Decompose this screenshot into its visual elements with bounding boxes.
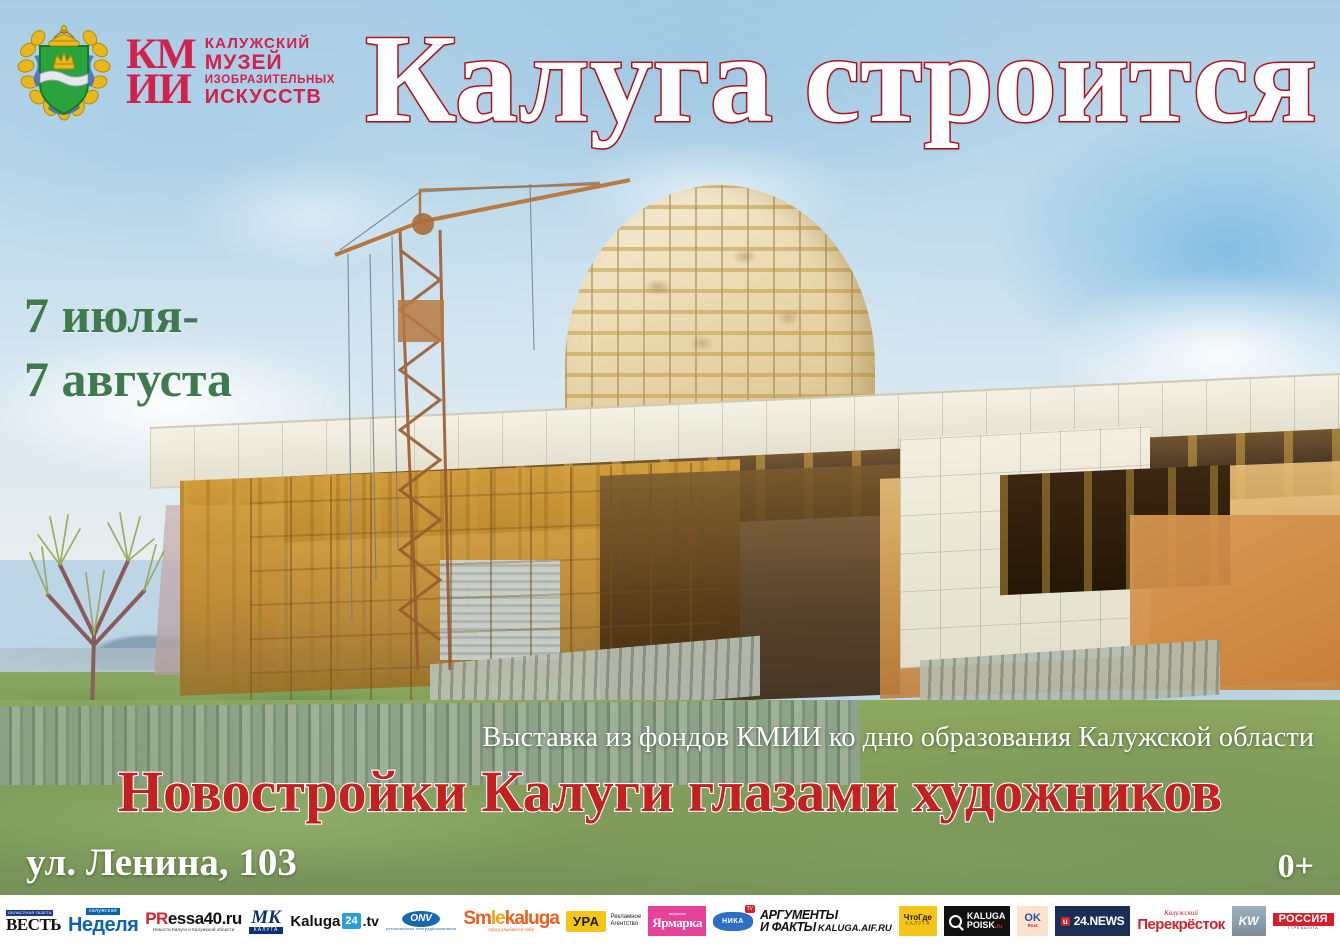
- sponsor-smile-tagline: город улыбается тебе: [488, 928, 534, 933]
- sponsor-pressa40-rest: essa40.ru: [168, 909, 242, 928]
- tower-crane: [300, 150, 720, 710]
- sponsor-logo-kaluga24tv[interactable]: Kaluga 24 .tv: [290, 906, 379, 936]
- sponsor-logo-kalugapoisk[interactable]: KALUGA POISK.ru: [944, 906, 1011, 936]
- kmii-word-iskusstv: ИСКУССТВ: [205, 87, 335, 109]
- sponsor-kaluga24-name: Kaluga: [290, 913, 340, 930]
- sponsor-logo-mk[interactable]: MK КАЛУГА: [249, 906, 284, 936]
- sponsor-kaluga24-badge: 24: [342, 913, 360, 929]
- poster-main-title: Калуга строится: [346, 12, 1336, 148]
- sponsor-pressa40-prefix: PR: [145, 909, 168, 928]
- sponsor-aif-line2: И ФАКТЫ: [760, 921, 816, 934]
- sponsor-pressa40-tagline: Новости Калуги и Калужской области: [153, 928, 235, 933]
- date-end: 7 августа: [24, 347, 232, 411]
- sponsor-logo-rossiya[interactable]: РОССИЯ ГТРК КАЛУГА: [1273, 906, 1334, 936]
- sponsor-logo-nedelya[interactable]: калужская Неделя: [68, 906, 138, 936]
- sponsor-poisk-line2: POISK: [967, 920, 995, 930]
- sponsor-rossiya-name: РОССИЯ: [1273, 913, 1334, 926]
- sponsor-logo-kw[interactable]: KW: [1232, 906, 1266, 936]
- exhibition-dates: 7 июля- 7 августа: [24, 283, 232, 411]
- sponsor-logo-bar: ОБЛАСТНАЯ ГАЗЕТА ВЕСТЬ калужская Неделя …: [0, 895, 1340, 947]
- date-start: 7 июля-: [24, 283, 232, 347]
- sponsor-ura-tagline-line2: Агентство: [610, 921, 638, 927]
- sponsor-smile-part-b: le: [491, 908, 505, 929]
- sponsor-nedelya-name: Неделя: [68, 915, 138, 935]
- kmii-wordmark: КАЛУЖСКИЙ МУЗЕЙ ИЗОБРАЗИТЕЛЬНЫХ ИСКУССТВ: [205, 36, 335, 109]
- sponsor-poisk-text: KALUGA POISK.ru: [967, 912, 1006, 931]
- sponsor-mk-city: КАЛУГА: [249, 927, 284, 934]
- sponsor-mk-name: MK: [251, 908, 281, 927]
- kmii-monogram: КМ ИИ: [126, 37, 196, 108]
- sponsor-smile-part-c: kaluga: [505, 908, 559, 929]
- museum-logo: КМ ИИ КАЛУЖСКИЙ МУЗЕЙ ИЗОБРАЗИТЕЛЬНЫХ ИС…: [16, 20, 335, 124]
- sponsor-ura-tagline-line1: Рекламное: [610, 914, 641, 920]
- sponsor-chtogde-city: КАЛУГА: [905, 922, 930, 928]
- sponsor-logo-24news[interactable]: u 24.NEWS: [1055, 906, 1130, 936]
- poster-subtitle: Выставка из фондов КМИИ ко дню образован…: [0, 722, 1340, 754]
- sponsor-nika-badge: TV: [745, 905, 755, 913]
- sponsor-onv-tagline: региональная телерадиокомпания: [386, 927, 456, 931]
- sponsor-aif-url: KALUGA.AIF.RU: [818, 924, 892, 934]
- sponsor-pressa40-name: PRessa40.ru: [145, 910, 242, 928]
- sponsor-onv-name: ONV: [402, 911, 440, 927]
- sponsor-smile-name: Smlekaluga: [463, 909, 559, 928]
- sponsor-ura-name: УРА: [566, 911, 607, 932]
- sponsor-24news-name: 24.NEWS: [1074, 914, 1125, 928]
- exhibition-title: Новостройки Калуги глазами художников: [0, 758, 1340, 825]
- sponsor-logo-nika[interactable]: НИКА TV: [713, 906, 753, 936]
- sponsor-logo-chtogde[interactable]: ЧтоГде КАЛУГА: [899, 906, 937, 936]
- sponsor-logo-ok[interactable]: OK Rost: [1017, 906, 1048, 936]
- exhibition-poster: КМ ИИ КАЛУЖСКИЙ МУЗЕЙ ИЗОБРАЗИТЕЛЬНЫХ ИС…: [0, 0, 1340, 947]
- sponsor-poisk-tld: .ru: [995, 924, 1003, 930]
- kmii-word-izobrazitelnyh: ИЗОБРАЗИТЕЛЬНЫХ: [205, 74, 335, 86]
- sponsor-logo-yarmarka[interactable]: калужская Ярмарка: [648, 906, 706, 936]
- bare-tree: [20, 495, 200, 715]
- sponsor-logo-ura[interactable]: УРА Рекламное Агентство: [566, 906, 641, 936]
- sponsor-kw-name: KW: [1239, 914, 1259, 928]
- sponsor-yarmarka-name: Ярмарка: [652, 916, 702, 929]
- sponsor-perekrestok-name: Перекрёсток: [1137, 917, 1224, 932]
- sponsor-smile-part-a: Sm: [463, 908, 491, 929]
- kmii-monogram-line2: ИИ: [126, 72, 196, 107]
- sponsor-kaluga24-tld: .tv: [363, 913, 379, 929]
- sponsor-rossiya-sub: ГТРК КАЛУГА: [1288, 926, 1318, 930]
- kaluga-coat-of-arms-icon: [16, 20, 112, 124]
- magnifier-icon: [949, 915, 962, 928]
- sponsor-vest-name: ВЕСТЬ: [6, 916, 61, 933]
- sponsor-24news-badge: u: [1061, 917, 1070, 926]
- sponsor-nika-name: НИКА: [713, 912, 753, 931]
- sponsor-logo-vest[interactable]: ОБЛАСТНАЯ ГАЗЕТА ВЕСТЬ: [6, 906, 61, 936]
- sponsor-logo-smilekaluga[interactable]: Smlekaluga город улыбается тебе: [463, 906, 559, 936]
- sponsor-logo-perekrestok[interactable]: Калужский Перекрёсток: [1137, 906, 1224, 936]
- sponsor-ok-sub: Rost: [1028, 924, 1038, 929]
- age-rating-badge: 0+: [1278, 848, 1314, 886]
- sponsor-logo-onv[interactable]: ONV региональная телерадиокомпания: [386, 906, 456, 936]
- venue-address: ул. Ленина, 103: [26, 840, 297, 885]
- kmii-lockup: КМ ИИ КАЛУЖСКИЙ МУЗЕЙ ИЗОБРАЗИТЕЛЬНЫХ ИС…: [126, 36, 335, 109]
- kmii-word-kaluzhskiy: КАЛУЖСКИЙ: [205, 36, 335, 52]
- sponsor-logo-pressa40[interactable]: PRessa40.ru Новости Калуги и Калужской о…: [145, 906, 242, 936]
- sponsor-aif-line2-row: И ФАКТЫ KALUGA.AIF.RU: [760, 921, 892, 934]
- sponsor-ura-tagline: Рекламное Агентство: [610, 914, 641, 929]
- kmii-word-muzey: МУЗЕЙ: [205, 52, 335, 75]
- sponsor-logo-aif[interactable]: АРГУМЕНТЫ И ФАКТЫ KALUGA.AIF.RU: [760, 906, 892, 936]
